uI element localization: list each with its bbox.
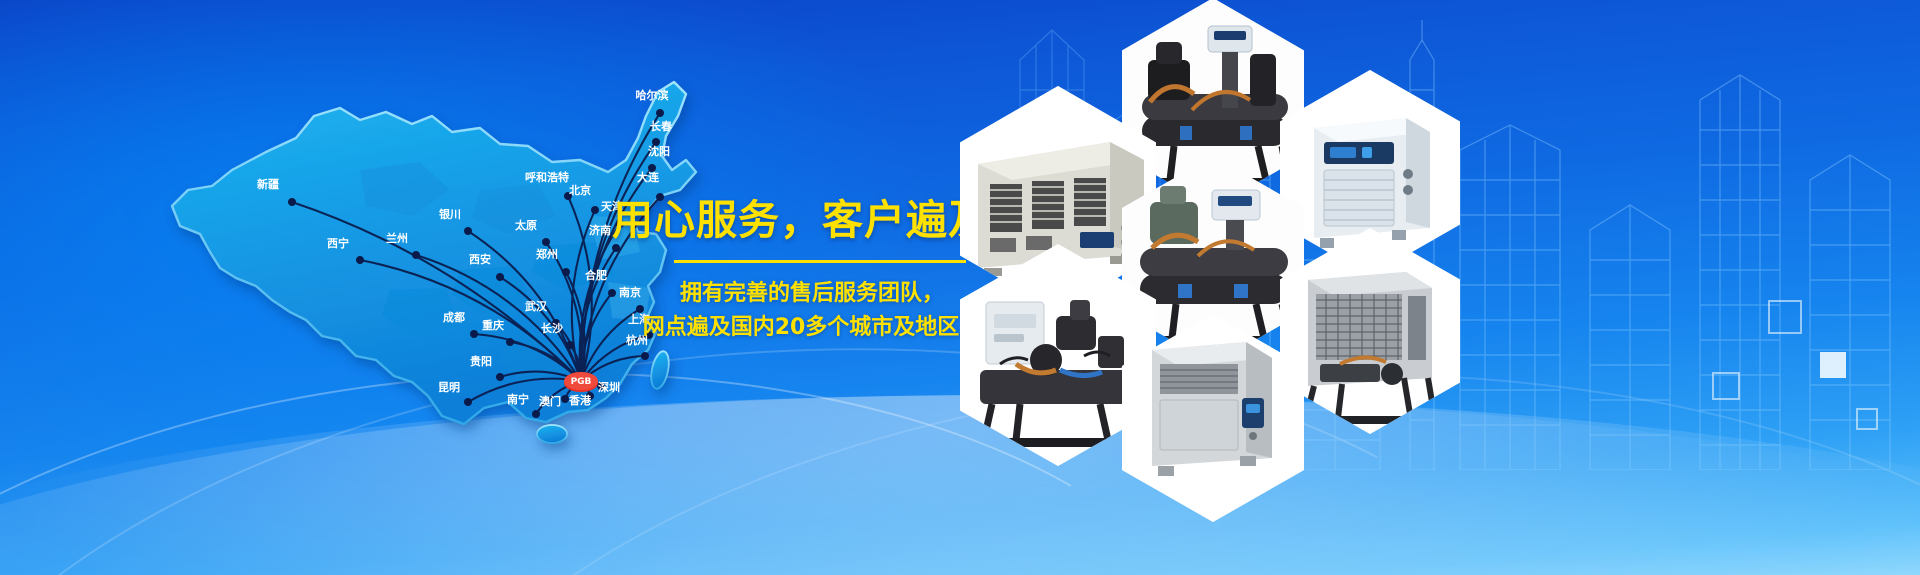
product-image-air-cooled-condenser [1280,228,1460,434]
headline: 用心服务，客户遍及全国 [612,196,1012,244]
divider-rule [674,260,966,263]
city-dot[interactable] [496,373,504,381]
city-dot[interactable] [470,330,478,338]
city-dot[interactable] [656,109,664,117]
decor-square-filled-1 [1820,352,1846,378]
city-dot[interactable] [648,164,656,172]
city-label: 银川 [439,207,461,221]
city-label: 长春 [650,119,673,133]
city-dot[interactable] [652,138,660,146]
city-label: 重庆 [482,318,504,332]
city-dot[interactable] [506,338,514,346]
city-dot[interactable] [412,251,420,259]
city-dot[interactable] [591,206,599,214]
hub-marker: PGB [564,372,598,392]
city-label: 香港 [568,393,592,407]
city-label: 西宁 [327,236,349,250]
city-dot[interactable] [464,398,472,406]
city-label: 哈尔滨 [636,88,669,102]
city-dot[interactable] [562,268,570,276]
banner-copy: 用心服务，客户遍及全国 拥有完善的售后服务团队， 网点遍及国内20多个城市及地区… [612,196,1012,346]
city-label: 西安 [469,252,491,266]
city-label: 长沙 [541,321,563,335]
subtitle-line-2: 网点遍及国内20多个城市及地区。 [612,311,1012,345]
product-hex-air-cooled-condenser[interactable] [1280,228,1460,434]
city-label: 澳门 [539,394,561,408]
decor-square-outline-3 [1856,408,1878,430]
city-dot[interactable] [566,341,574,349]
city-label: 成都 [443,310,465,324]
product-hex-grid [960,0,1580,460]
city-label: 深圳 [598,380,620,394]
city-label: 武汉 [525,299,548,313]
city-label: 昆明 [438,381,460,394]
city-dot[interactable] [641,352,649,360]
promo-banner: 新疆西宁兰州银川呼和浩特北京天津大连沈阳长春哈尔滨太原西安郑州济南合肥南京上海杭… [0,0,1920,575]
city-label: 郑州 [536,247,558,261]
city-label: 沈阳 [648,144,670,158]
city-label: 贵阳 [470,354,492,368]
city-label: 大连 [637,170,660,184]
city-label: 北京 [569,183,591,197]
city-dot[interactable] [356,256,364,264]
city-label: 呼和浩特 [525,170,569,184]
city-dot[interactable] [496,273,504,281]
city-label: 合肥 [585,268,607,282]
city-label: 新疆 [257,177,279,191]
city-label: 济南 [589,223,611,237]
decor-square-outline-2 [1712,372,1740,400]
city-dot[interactable] [464,227,472,235]
city-dot[interactable] [561,395,569,403]
city-label: 南宁 [507,392,529,406]
city-dot[interactable] [542,238,550,246]
city-label: 太原 [514,218,537,232]
city-label: 兰州 [386,231,408,245]
city-dot[interactable] [532,410,540,418]
city-dot[interactable] [288,198,296,206]
decor-square-outline-1 [1768,300,1802,334]
subtitle-line-1: 拥有完善的售后服务团队， [612,277,1012,311]
hub-label: PGB [571,377,592,387]
